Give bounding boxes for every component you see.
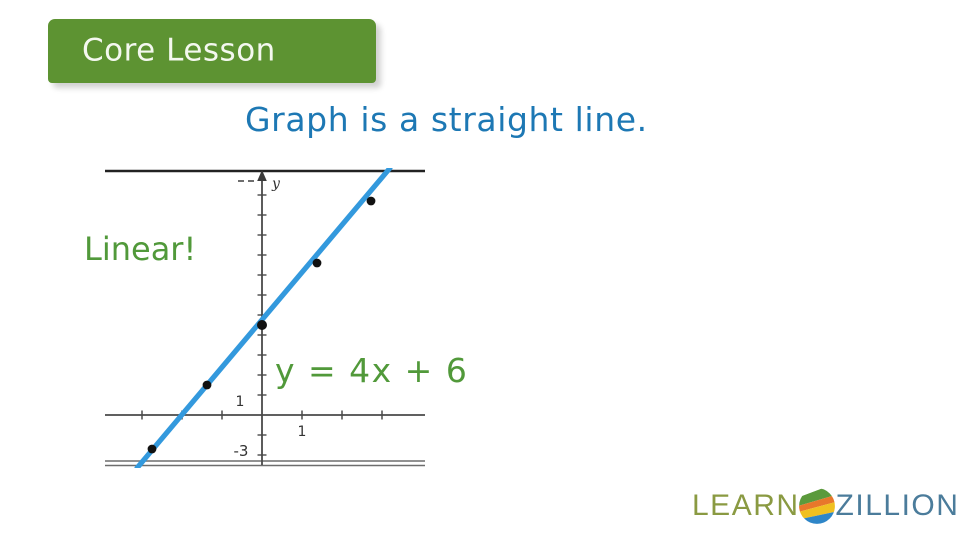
annotation-equation: y = 4x + 6 (275, 351, 468, 390)
logo-word-learn: LEARN (692, 491, 800, 521)
core-lesson-banner: Core Lesson (48, 19, 376, 83)
annotation-linear: Linear! (84, 230, 196, 268)
y-axis-label: y (271, 176, 281, 192)
data-point (203, 381, 212, 390)
coordinate-graph: y 1 -3 1 (105, 168, 425, 468)
data-point (313, 259, 322, 268)
data-point (148, 445, 157, 454)
data-point (367, 197, 376, 206)
core-lesson-banner-label: Core Lesson (82, 32, 276, 68)
globe-icon (795, 484, 839, 528)
learnzillion-logo: LEARN ZILLION (692, 484, 959, 528)
y-tick-label-neg3: -3 (234, 442, 249, 460)
slide-title: Graph is a straight line. (245, 100, 648, 139)
x-tick-label-1: 1 (298, 424, 307, 440)
y-tick-label-1: 1 (236, 394, 245, 410)
data-point (257, 320, 267, 330)
logo-word-zillion: ZILLION (836, 491, 960, 521)
plotted-line (137, 168, 390, 468)
slide-canvas: Core Lesson Graph is a straight line. (0, 0, 960, 537)
